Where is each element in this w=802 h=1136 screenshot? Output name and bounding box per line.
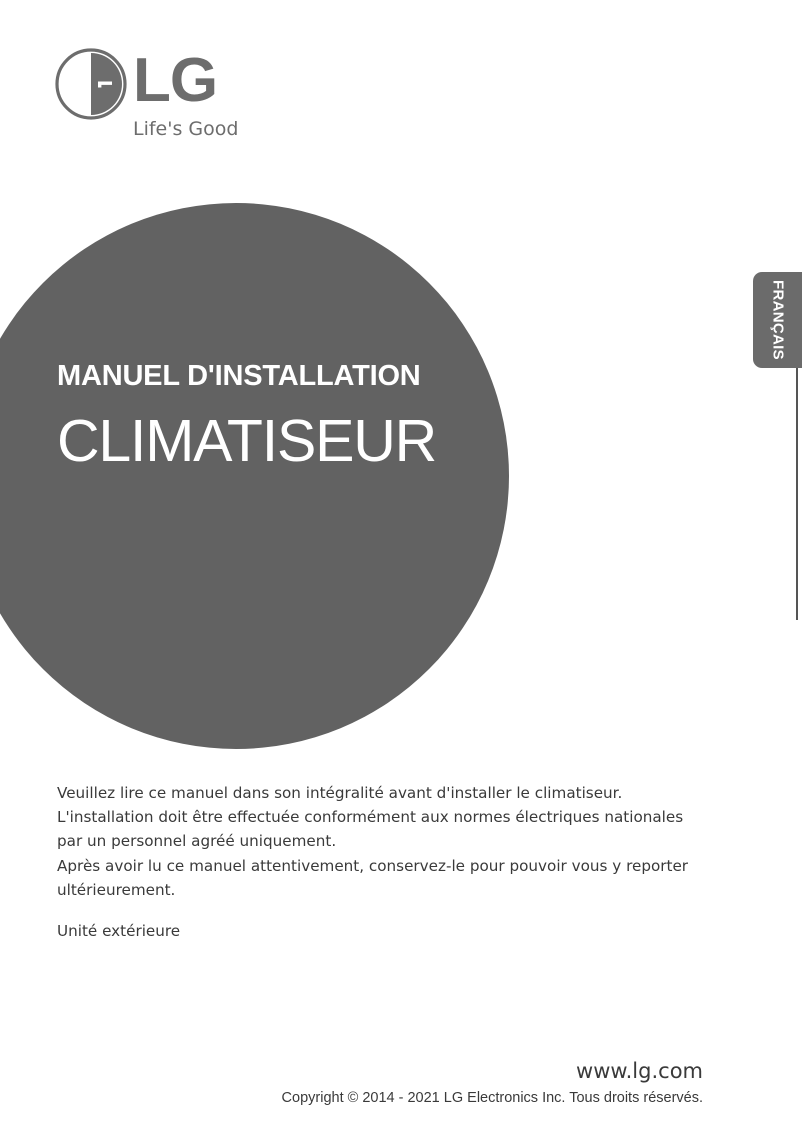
product-title: CLIMATISEUR bbox=[57, 404, 577, 478]
website-url[interactable]: www.lg.com bbox=[0, 1058, 703, 1085]
intro-line-4: Après avoir lu ce manuel attentivement, … bbox=[57, 854, 712, 878]
language-tab-francais[interactable]: FRANÇAIS bbox=[753, 272, 802, 368]
logo-row: LG bbox=[55, 48, 295, 120]
intro-line-3: par un personnel agréé uniquement. bbox=[57, 829, 712, 853]
lg-tagline: Life's Good bbox=[133, 118, 238, 140]
intro-line-1: Veuillez lire ce manuel dans son intégra… bbox=[57, 781, 712, 805]
intro-line-5: ultérieurement. bbox=[57, 878, 712, 902]
cover-title-group: MANUEL D'INSTALLATION CLIMATISEUR bbox=[57, 356, 577, 478]
page-edge-rule bbox=[796, 368, 798, 620]
page-footer: www.lg.com Copyright © 2014 - 2021 LG El… bbox=[0, 1058, 802, 1109]
lg-logo: LG Life's Good bbox=[55, 48, 295, 148]
intro-line-2: L'installation doit être effectuée confo… bbox=[57, 805, 712, 829]
copyright-notice: Copyright © 2014 - 2021 LG Electronics I… bbox=[0, 1087, 703, 1109]
lg-circle-face-logo-icon bbox=[55, 48, 127, 120]
language-tab-label: FRANÇAIS bbox=[769, 280, 786, 360]
lg-wordmark: LG bbox=[133, 42, 217, 120]
unit-type-label: Unité extérieure bbox=[57, 919, 180, 943]
manual-cover-page: LG Life's Good MANUEL D'INSTALLATION CLI… bbox=[0, 0, 802, 1136]
intro-instructions: Veuillez lire ce manuel dans son intégra… bbox=[57, 781, 712, 902]
manual-type-subtitle: MANUEL D'INSTALLATION bbox=[57, 356, 577, 396]
